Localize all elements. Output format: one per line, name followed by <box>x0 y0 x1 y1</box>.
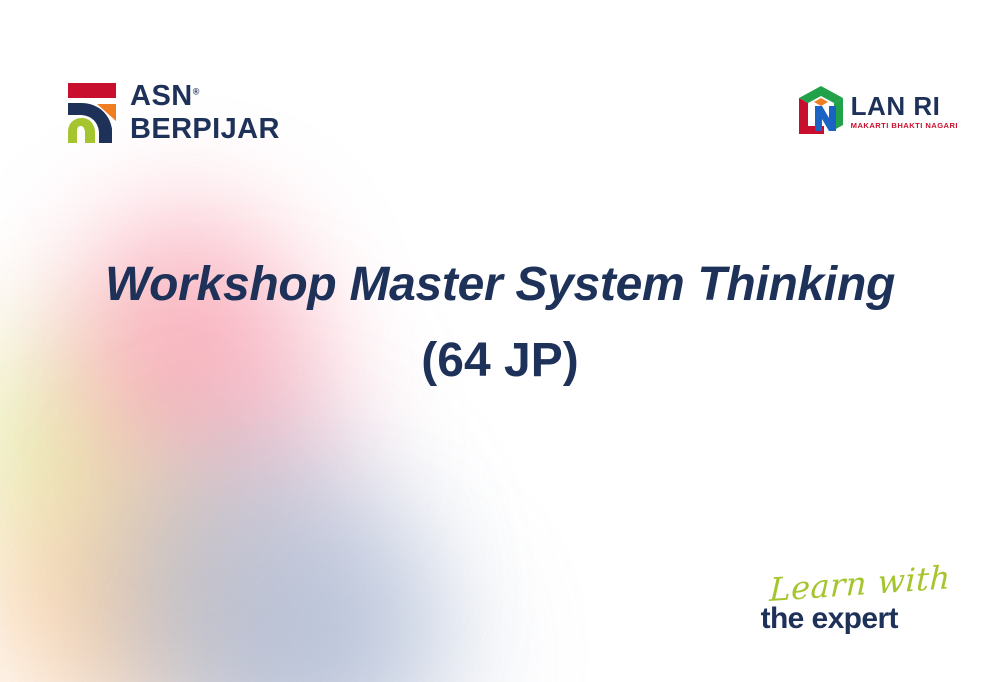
asn-berpijar-mark-icon <box>66 82 118 144</box>
slide-title-block: Workshop Master System Thinking (64 JP) <box>0 258 1000 388</box>
gradient-blob-slate <box>110 440 410 682</box>
lanri-tagline: MAKARTI BHAKTI NAGARI <box>851 122 958 130</box>
gradient-blob-white-wash <box>0 180 430 682</box>
registered-trademark-icon: ® <box>193 86 200 96</box>
asn-wordmark-line1: ASN® <box>130 82 280 111</box>
slide-title-line1: Workshop Master System Thinking <box>0 258 1000 312</box>
slide-canvas: ASN® BERPIJAR LAN RI MAKARTI BHAKTI NAGA… <box>0 0 1000 682</box>
asn-berpijar-wordmark: ASN® BERPIJAR <box>130 82 280 144</box>
asn-berpijar-logo: ASN® BERPIJAR <box>66 82 280 144</box>
asn-wordmark-line2: BERPIJAR <box>130 115 280 144</box>
lanri-logo: LAN RI MAKARTI BHAKTI NAGARI <box>796 84 958 139</box>
lanri-wordmark: LAN RI MAKARTI BHAKTI NAGARI <box>851 93 958 130</box>
gradient-blob-orange <box>0 470 260 682</box>
the-expert-text: the expert <box>761 604 950 634</box>
lanri-hexagon-mark-icon <box>796 84 846 139</box>
gradient-blob-slate-2 <box>185 545 465 682</box>
lanri-wordmark-title: LAN RI <box>851 93 958 119</box>
learn-with-the-expert-logo: Learn with the expert <box>761 574 950 634</box>
learn-with-script-text: Learn with <box>769 561 951 606</box>
slide-title-line2: (64 JP) <box>0 334 1000 388</box>
